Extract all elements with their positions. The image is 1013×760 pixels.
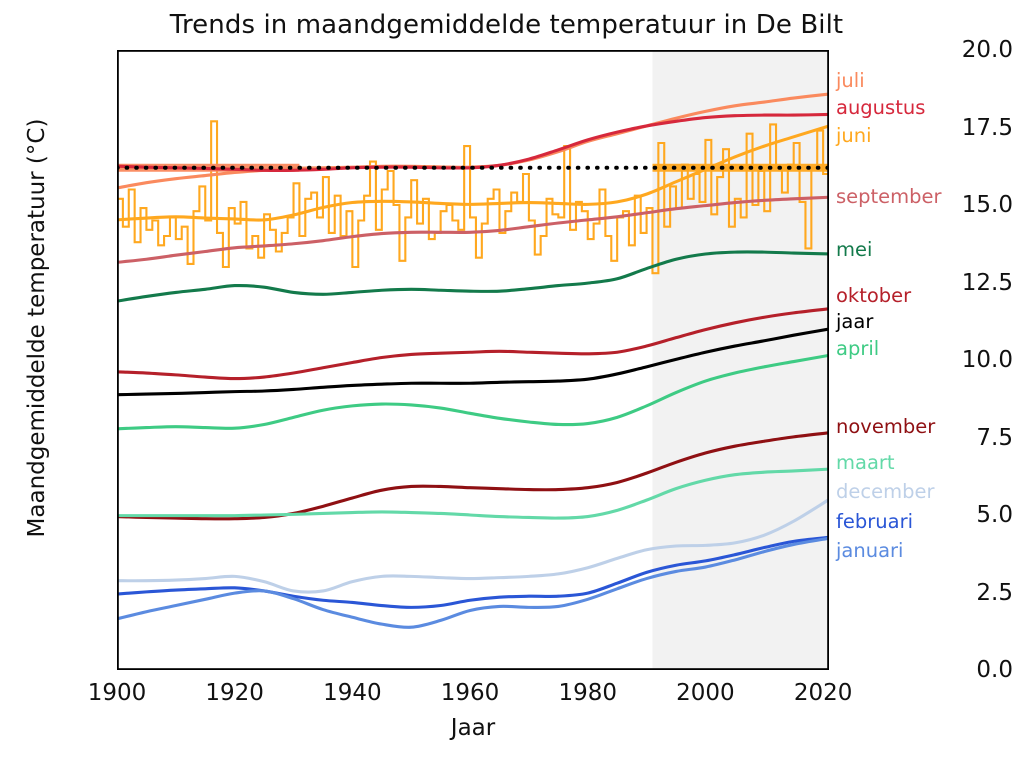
y-axis-label: Maandgemiddelde temperatuur (°C) (24, 8, 50, 648)
y-tick-label: 0.0 (913, 657, 1013, 683)
legend-label-maart: maart (836, 451, 895, 474)
chart-canvas (117, 50, 829, 670)
legend-label-november: november (836, 415, 935, 438)
legend-label-december: december (836, 480, 934, 503)
figure: Trends in maandgemiddelde temperatuur in… (0, 0, 1013, 760)
x-tick-label: 1940 (292, 680, 412, 706)
y-tick-label: 20.0 (913, 37, 1013, 63)
x-tick-label: 2000 (645, 680, 765, 706)
y-tick-label: 17.5 (913, 115, 1013, 141)
y-tick-label: 12.5 (913, 270, 1013, 296)
legend-label-april: april (836, 337, 879, 360)
legend-label-februari: februari (836, 510, 913, 533)
x-tick-label: 1900 (57, 680, 177, 706)
legend-label-juni: juni (836, 124, 872, 147)
x-axis-label: Jaar (117, 715, 829, 741)
x-tick-label: 1920 (175, 680, 295, 706)
legend-label-september: september (836, 185, 942, 208)
plot-area (117, 50, 829, 670)
y-tick-label: 5.0 (913, 502, 1013, 528)
legend-label-augustus: augustus (836, 96, 925, 119)
y-tick-label: 2.5 (913, 580, 1013, 606)
legend-label-oktober: oktober (836, 284, 911, 307)
legend-label-mei: mei (836, 238, 872, 261)
x-tick-label: 2020 (763, 680, 883, 706)
x-tick-label: 1980 (528, 680, 648, 706)
legend-label-jaar: jaar (836, 310, 873, 333)
legend-label-juli: juli (836, 69, 865, 92)
legend-label-januari: januari (836, 539, 903, 562)
y-tick-label: 10.0 (913, 347, 1013, 373)
x-tick-label: 1960 (410, 680, 530, 706)
chart-title: Trends in maandgemiddelde temperatuur in… (0, 10, 1013, 40)
